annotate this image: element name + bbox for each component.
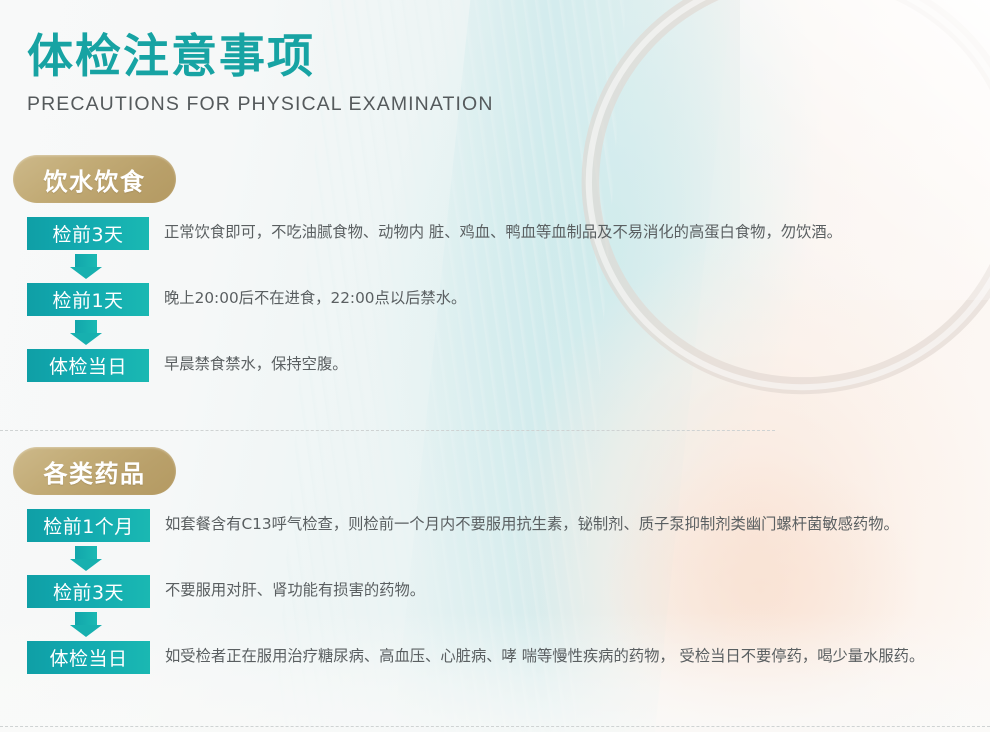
timeline-description: 如套餐含有C13呼气检查，则检前一个月内不要服用抗生素，铋制剂、质子泵抑制剂类幽… <box>165 509 899 536</box>
timeline-tag-3-days-before: 检前3天 <box>27 575 150 608</box>
timeline-tag-1-day-before: 检前1天 <box>27 283 149 316</box>
arrow-head <box>70 559 102 571</box>
arrow-stem <box>75 320 97 333</box>
timeline-row: 检前1个月 如套餐含有C13呼气检查，则检前一个月内不要服用抗生素，铋制剂、质子… <box>0 509 990 542</box>
timeline-tag-label: 体检当日 <box>49 352 127 379</box>
arrow-head <box>70 267 102 279</box>
timeline-description: 如受检者正在服用治疗糖尿病、高血压、心脏病、哮 喘等慢性疾病的药物， 受检当日不… <box>165 641 924 668</box>
timeline-description: 正常饮食即可，不吃油腻食物、动物内 脏、鸡血、鸭血等血制品及不易消化的高蛋白食物… <box>164 217 842 244</box>
flow-arrow-4 <box>27 608 149 641</box>
arrow-stem <box>75 546 97 559</box>
timeline-tag-label: 检前1个月 <box>43 512 134 539</box>
timeline-tag-3-days-before: 检前3天 <box>27 217 149 250</box>
timeline-row: 检前1天 晚上20:00后不在进食，22:00点以后禁水。 <box>0 283 990 316</box>
arrow-head <box>70 333 102 345</box>
timeline-tag-label: 检前1天 <box>52 286 123 313</box>
timeline-description: 晚上20:00后不在进食，22:00点以后禁水。 <box>164 283 466 310</box>
section-badge-drinking-and-diet: 饮水饮食 <box>13 155 176 203</box>
timeline-tag-1-month-before: 检前1个月 <box>27 509 150 542</box>
arrow-head <box>70 625 102 637</box>
timeline-row: 检前3天 正常饮食即可，不吃油腻食物、动物内 脏、鸡血、鸭血等血制品及不易消化的… <box>0 217 990 250</box>
section-divider <box>0 430 775 431</box>
arrow-stem <box>75 254 97 267</box>
timeline-tag-exam-day: 体检当日 <box>27 641 150 674</box>
flow-arrow-2 <box>27 316 149 349</box>
timeline-tag-label: 检前3天 <box>52 220 123 247</box>
page-title: 体检注意事项 <box>27 30 494 83</box>
bottom-divider <box>0 726 990 727</box>
precautions-page: 体检注意事项 PRECAUTIONS FOR PHYSICAL EXAMINAT… <box>0 0 990 732</box>
timeline-row: 体检当日 早晨禁食禁水，保持空腹。 <box>0 349 990 382</box>
section-badge-label: 饮水饮食 <box>44 162 146 197</box>
timeline-tag-exam-day: 体检当日 <box>27 349 149 382</box>
section-rows: 检前3天 正常饮食即可，不吃油腻食物、动物内 脏、鸡血、鸭血等血制品及不易消化的… <box>0 217 990 382</box>
page-header: 体检注意事项 PRECAUTIONS FOR PHYSICAL EXAMINAT… <box>27 30 494 116</box>
flow-arrow-3 <box>27 542 149 575</box>
timeline-tag-label: 体检当日 <box>49 644 127 671</box>
timeline-row: 检前3天 不要服用对肝、肾功能有损害的药物。 <box>0 575 990 608</box>
timeline-description: 早晨禁食禁水，保持空腹。 <box>164 349 348 376</box>
timeline-description: 不要服用对肝、肾功能有损害的药物。 <box>165 575 425 602</box>
section-rows: 检前1个月 如套餐含有C13呼气检查，则检前一个月内不要服用抗生素，铋制剂、质子… <box>0 509 990 674</box>
arrow-stem <box>75 612 97 625</box>
flow-arrow-1 <box>27 250 149 283</box>
timeline-row: 体检当日 如受检者正在服用治疗糖尿病、高血压、心脏病、哮 喘等慢性疾病的药物， … <box>0 641 990 674</box>
section-badge-label: 各类药品 <box>44 454 146 489</box>
timeline-tag-label: 检前3天 <box>53 578 124 605</box>
page-subtitle: PRECAUTIONS FOR PHYSICAL EXAMINATION <box>27 93 494 116</box>
section-badge-medications: 各类药品 <box>13 447 176 495</box>
